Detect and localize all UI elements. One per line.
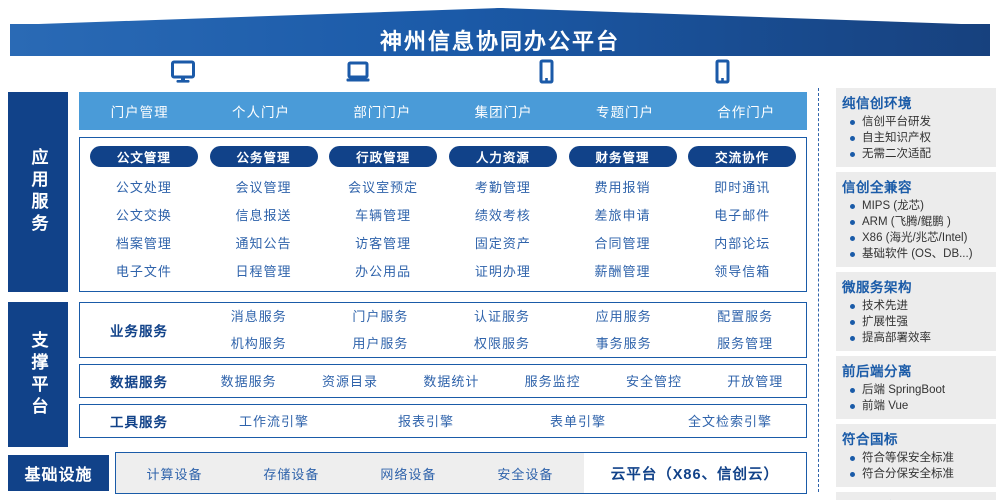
device-icon-row xyxy=(79,60,807,90)
support-row-tool: 工具服务 工作流引擎报表引擎表单引擎全文检索引擎 xyxy=(79,404,807,438)
app-service-item[interactable]: 会议室预定 xyxy=(348,174,418,202)
support-service-item[interactable]: 门户服务 xyxy=(320,303,442,330)
support-service-item[interactable]: 表单引擎 xyxy=(502,408,654,435)
feature-list-item-label: 扩展性强 xyxy=(862,314,908,330)
bullet-icon xyxy=(850,252,855,257)
feature-block-title: 前后端分离 xyxy=(842,360,990,380)
feature-block-title: 符合国标 xyxy=(842,428,990,448)
app-service-item[interactable]: 电子文件 xyxy=(116,258,172,286)
app-service-item[interactable]: 通知公告 xyxy=(236,230,292,258)
support-service-item[interactable]: 消息服务 xyxy=(198,303,320,330)
app-service-category[interactable]: 公文管理 xyxy=(90,146,198,167)
feature-list-item-label: 符合分保安全标准 xyxy=(862,466,954,482)
portal-item[interactable]: 合作门户 xyxy=(686,101,807,121)
portal-item[interactable]: 门户管理 xyxy=(79,101,200,121)
bullet-icon xyxy=(850,220,855,225)
portal-item[interactable]: 个人门户 xyxy=(200,101,321,121)
portal-item[interactable]: 部门门户 xyxy=(322,101,443,121)
feature-list-item-label: 无需二次适配 xyxy=(862,146,931,162)
app-service-column: 行政管理会议室预定车辆管理访客管理办公用品 xyxy=(323,146,443,287)
bullet-icon xyxy=(850,320,855,325)
app-service-item[interactable]: 访客管理 xyxy=(355,230,411,258)
support-row-items: 消息服务门户服务认证服务应用服务配置服务机构服务用户服务权限服务事务服务服务管理 xyxy=(198,303,806,357)
feature-list-item: 自主知识产权 xyxy=(842,130,990,146)
feature-block: 信创全兼容MIPS (龙芯)ARM (飞腾/鲲鹏 )X86 (海光/兆芯/Int… xyxy=(836,172,996,267)
feature-block-title: 微服务架构 xyxy=(842,276,990,296)
feature-list-item: 基础软件 (OS、DB...) xyxy=(842,246,990,262)
app-service-category[interactable]: 公务管理 xyxy=(210,146,318,167)
feature-block-title: 信创全兼容 xyxy=(842,176,990,196)
support-row-business: 业务服务 消息服务门户服务认证服务应用服务配置服务机构服务用户服务权限服务事务服… xyxy=(79,302,807,358)
bullet-icon xyxy=(850,304,855,309)
app-service-item[interactable]: 档案管理 xyxy=(116,230,172,258)
app-service-column: 人力资源考勤管理绩效考核固定资产证明办理 xyxy=(443,146,563,287)
app-service-item[interactable]: 考勤管理 xyxy=(475,174,531,202)
feature-list-item: X86 (海光/兆芯/Intel) xyxy=(842,230,990,246)
app-service-column: 公务管理会议管理信息报送通知公告日程管理 xyxy=(204,146,324,287)
support-service-item[interactable]: 权限服务 xyxy=(441,330,563,357)
app-service-category[interactable]: 交流协作 xyxy=(688,146,796,167)
app-service-item[interactable]: 费用报销 xyxy=(595,174,651,202)
app-service-category[interactable]: 财务管理 xyxy=(569,146,677,167)
section-divider xyxy=(818,88,819,492)
support-service-item[interactable]: 工作流引擎 xyxy=(198,408,350,435)
feature-list-item: ARM (飞腾/鲲鹏 ) xyxy=(842,214,990,230)
bullet-icon xyxy=(850,404,855,409)
support-service-item[interactable]: 用户服务 xyxy=(320,330,442,357)
app-service-column: 财务管理费用报销差旅申请合同管理薪酬管理 xyxy=(563,146,683,287)
app-service-item[interactable]: 固定资产 xyxy=(475,230,531,258)
infrastructure-item[interactable]: 网络设备 xyxy=(350,453,467,493)
laptop-icon xyxy=(345,59,371,90)
feature-list-item-label: 符合等保安全标准 xyxy=(862,450,954,466)
app-services-box: 公文管理公文处理公文交换档案管理电子文件公务管理会议管理信息报送通知公告日程管理… xyxy=(79,137,807,292)
sidebar-item-support-platform: 支撑平台 xyxy=(8,302,68,447)
infrastructure-cloud-platform[interactable]: 云平台（X86、信创云） xyxy=(584,453,806,493)
feature-list-item: 符合等保安全标准 xyxy=(842,450,990,466)
feature-block: 接口丰富开放API管理 xyxy=(836,492,996,500)
feature-list-item-label: X86 (海光/兆芯/Intel) xyxy=(862,230,967,246)
support-service-item[interactable]: 资源目录 xyxy=(299,368,400,395)
support-service-item[interactable]: 全文检索引擎 xyxy=(654,408,806,435)
bullet-icon xyxy=(850,236,855,241)
sidebar-item-infrastructure: 基础设施 xyxy=(8,455,109,491)
infrastructure-box: 计算设备存储设备网络设备安全设备云平台（X86、信创云） xyxy=(115,452,807,494)
support-service-item[interactable]: 事务服务 xyxy=(563,330,685,357)
feature-block-title: 接口丰富 xyxy=(842,496,990,500)
support-service-item[interactable]: 机构服务 xyxy=(198,330,320,357)
support-service-item[interactable]: 服务监控 xyxy=(502,368,603,395)
infrastructure-item[interactable]: 计算设备 xyxy=(116,453,233,493)
sidebar-label-infrastructure: 基础设施 xyxy=(24,461,92,485)
support-service-item[interactable]: 配置服务 xyxy=(684,303,806,330)
support-row-label: 数据服务 xyxy=(80,371,198,391)
feature-list-item-label: 后端 SpringBoot xyxy=(862,382,945,398)
bullet-icon xyxy=(850,152,855,157)
app-service-item[interactable]: 绩效考核 xyxy=(475,202,531,230)
feature-list-item-label: 自主知识产权 xyxy=(862,130,931,146)
app-service-column: 交流协作即时通讯电子邮件内部论坛领导信箱 xyxy=(682,146,802,287)
feature-list-item: 符合分保安全标准 xyxy=(842,466,990,482)
support-service-item[interactable]: 数据统计 xyxy=(401,368,502,395)
feature-block: 微服务架构技术先进扩展性强提高部署效率 xyxy=(836,272,996,351)
app-service-item[interactable]: 公文交换 xyxy=(116,202,172,230)
header-banner: 神州信息协同办公平台 xyxy=(0,0,1000,60)
app-service-item[interactable]: 证明办理 xyxy=(475,258,531,286)
feature-panel: 纯信创环境信创平台研发自主知识产权无需二次适配信创全兼容MIPS (龙芯)ARM… xyxy=(836,88,996,500)
feature-list-item-label: 技术先进 xyxy=(862,298,908,314)
bullet-icon xyxy=(850,472,855,477)
app-service-category[interactable]: 行政管理 xyxy=(329,146,437,167)
feature-block: 符合国标符合等保安全标准符合分保安全标准 xyxy=(836,424,996,487)
feature-list-item-label: 信创平台研发 xyxy=(862,114,931,130)
feature-block: 纯信创环境信创平台研发自主知识产权无需二次适配 xyxy=(836,88,996,167)
page-title: 神州信息协同办公平台 xyxy=(0,24,1000,56)
support-row-label: 工具服务 xyxy=(80,411,198,431)
support-service-item[interactable]: 报表引擎 xyxy=(350,408,502,435)
app-service-item[interactable]: 车辆管理 xyxy=(355,202,411,230)
portal-item[interactable]: 集团门户 xyxy=(443,101,564,121)
app-service-item[interactable]: 信息报送 xyxy=(236,202,292,230)
support-service-item[interactable]: 开放管理 xyxy=(705,368,806,395)
support-row-items: 工作流引擎报表引擎表单引擎全文检索引擎 xyxy=(198,408,806,435)
app-service-item[interactable]: 薪酬管理 xyxy=(595,258,651,286)
feature-list-item-label: MIPS (龙芯) xyxy=(862,198,924,214)
mobile-icon xyxy=(533,59,559,90)
bullet-icon xyxy=(850,136,855,141)
infrastructure-item[interactable]: 安全设备 xyxy=(467,453,584,493)
portal-bar: 门户管理个人门户部门门户集团门户专题门户合作门户 xyxy=(79,92,807,130)
support-service-item[interactable]: 认证服务 xyxy=(441,303,563,330)
feature-list-item-label: 提高部署效率 xyxy=(862,330,931,346)
feature-list-item: 信创平台研发 xyxy=(842,114,990,130)
feature-list-item: 提高部署效率 xyxy=(842,330,990,346)
app-service-item[interactable]: 内部论坛 xyxy=(714,230,770,258)
app-service-category[interactable]: 人力资源 xyxy=(449,146,557,167)
app-service-item[interactable]: 电子邮件 xyxy=(714,202,770,230)
app-service-item[interactable]: 差旅申请 xyxy=(595,202,651,230)
app-service-item[interactable]: 领导信箱 xyxy=(714,258,770,286)
app-service-item[interactable]: 办公用品 xyxy=(355,258,411,286)
feature-list-item-label: 前端 Vue xyxy=(862,398,908,414)
feature-block: 前后端分离后端 SpringBoot前端 Vue xyxy=(836,356,996,419)
app-services-grid: 公文管理公文处理公文交换档案管理电子文件公务管理会议管理信息报送通知公告日程管理… xyxy=(80,138,806,291)
support-row-label: 业务服务 xyxy=(80,320,198,340)
bullet-icon xyxy=(850,388,855,393)
support-service-item[interactable]: 服务管理 xyxy=(684,330,806,357)
support-row-items: 数据服务资源目录数据统计服务监控安全管控开放管理 xyxy=(198,368,806,395)
architecture-diagram: 神州信息协同办公平台 xyxy=(0,0,1000,500)
feature-list-item: 后端 SpringBoot xyxy=(842,382,990,398)
support-row-data: 数据服务 数据服务资源目录数据统计服务监控安全管控开放管理 xyxy=(79,364,807,398)
feature-list-item-label: 基础软件 (OS、DB...) xyxy=(862,246,973,262)
bullet-icon xyxy=(850,336,855,341)
bullet-icon xyxy=(850,120,855,125)
feature-list-item: 前端 Vue xyxy=(842,398,990,414)
sidebar-item-app-services: 应用服务 xyxy=(8,92,68,292)
app-service-column: 公文管理公文处理公文交换档案管理电子文件 xyxy=(84,146,204,287)
bullet-icon xyxy=(850,456,855,461)
app-service-item[interactable]: 日程管理 xyxy=(236,258,292,286)
feature-list-item: 技术先进 xyxy=(842,298,990,314)
portal-item[interactable]: 专题门户 xyxy=(564,101,685,121)
support-service-item[interactable]: 安全管控 xyxy=(603,368,704,395)
infrastructure-item[interactable]: 存储设备 xyxy=(233,453,350,493)
sidebar-label-app-services: 应用服务 xyxy=(26,148,51,236)
feature-block-title: 纯信创环境 xyxy=(842,92,990,112)
desktop-icon xyxy=(170,59,196,90)
support-service-item[interactable]: 应用服务 xyxy=(563,303,685,330)
sidebar-label-support-platform: 支撑平台 xyxy=(26,331,51,419)
feature-list-item: 扩展性强 xyxy=(842,314,990,330)
app-service-item[interactable]: 合同管理 xyxy=(595,230,651,258)
app-service-item[interactable]: 即时通讯 xyxy=(714,174,770,202)
feature-list-item: MIPS (龙芯) xyxy=(842,198,990,214)
bullet-icon xyxy=(850,204,855,209)
mobile-icon-2 xyxy=(709,59,735,90)
feature-list-item-label: ARM (飞腾/鲲鹏 ) xyxy=(862,214,951,230)
app-service-item[interactable]: 会议管理 xyxy=(236,174,292,202)
support-service-item[interactable]: 数据服务 xyxy=(198,368,299,395)
app-service-item[interactable]: 公文处理 xyxy=(116,174,172,202)
feature-list-item: 无需二次适配 xyxy=(842,146,990,162)
